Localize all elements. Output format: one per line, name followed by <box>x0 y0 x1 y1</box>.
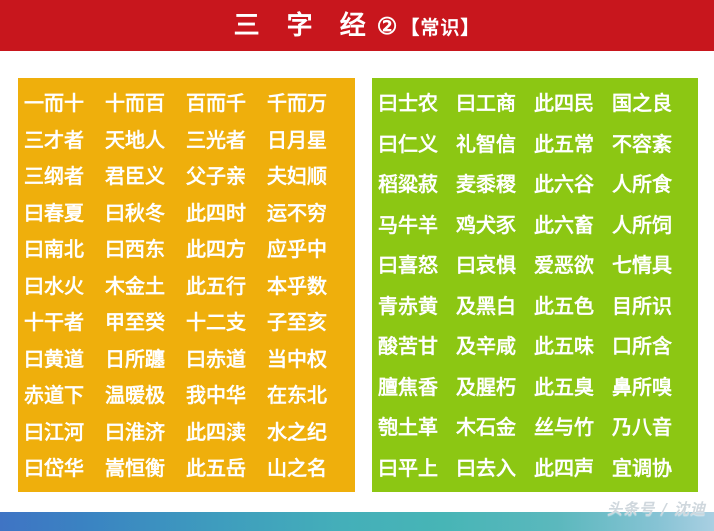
verse-cell: 国之良 <box>612 88 672 118</box>
verse-row: 青赤黄及黑白此五色目所识 <box>378 291 692 321</box>
verse-cell: 君臣义 <box>105 161 186 191</box>
verse-cell: 此五色 <box>534 291 612 321</box>
page-title-tag: 【常识】 <box>400 17 480 39</box>
verse-table-orange: 一而十十而百百而千千而万三才者天地人三光者日月星三纲者君臣义父子亲夫妇顺曰春夏曰… <box>18 78 355 492</box>
verse-cell: 十而百 <box>105 88 186 118</box>
verse-cell: 曰黄道 <box>24 344 105 374</box>
verse-cell: 膻焦香 <box>378 372 456 402</box>
verse-row: 三纲者君臣义父子亲夫妇顺 <box>24 161 349 191</box>
verse-cell: 曰秋冬 <box>105 198 186 228</box>
verse-cell: 此四时 <box>186 198 267 228</box>
verse-cell: 木金土 <box>105 271 186 301</box>
verse-cell: 曰士农 <box>378 88 456 118</box>
verse-cell: 三才者 <box>24 125 105 155</box>
verse-cell: 青赤黄 <box>378 291 456 321</box>
verse-cell: 日所躔 <box>105 344 186 374</box>
verse-row: 膻焦香及腥朽此五臭鼻所嗅 <box>378 372 692 402</box>
verse-cell: 曰西东 <box>105 234 186 264</box>
verse-row: 三才者天地人三光者日月星 <box>24 125 349 155</box>
verse-cell: 我中华 <box>186 380 267 410</box>
verse-cell: 此四方 <box>186 234 267 264</box>
verse-cell: 礼智信 <box>456 129 534 159</box>
verse-cell: 人所饲 <box>612 210 672 240</box>
verse-cell: 此四渎 <box>186 417 267 447</box>
verse-cell: 此五味 <box>534 331 612 361</box>
verse-row: 曰喜怒曰哀惧爱恶欲七情具 <box>378 250 692 280</box>
verse-cell: 当中权 <box>267 344 327 374</box>
verse-cell: 曰平上 <box>378 453 456 483</box>
verse-cell: 夫妇顺 <box>267 161 327 191</box>
verse-row: 马牛羊鸡犬豕此六畜人所饲 <box>378 210 692 240</box>
verse-cell: 曰哀惧 <box>456 250 534 280</box>
verse-cell: 此五臭 <box>534 372 612 402</box>
verse-cell: 此五行 <box>186 271 267 301</box>
verse-cell: 曰江河 <box>24 417 105 447</box>
verse-cell: 十干者 <box>24 307 105 337</box>
verse-row: 曰士农曰工商此四民国之良 <box>378 88 692 118</box>
verse-cell: 水之纪 <box>267 417 327 447</box>
verse-cell: 及黑白 <box>456 291 534 321</box>
verse-cell: 嵩恒衡 <box>105 453 186 483</box>
verse-cell: 马牛羊 <box>378 210 456 240</box>
verse-cell: 此六畜 <box>534 210 612 240</box>
verse-tables-area: 一而十十而百百而千千而万三才者天地人三光者日月星三纲者君臣义父子亲夫妇顺曰春夏曰… <box>0 51 714 512</box>
verse-cell: 一而十 <box>24 88 105 118</box>
verse-row: 曰春夏曰秋冬此四时运不穷 <box>24 198 349 228</box>
verse-cell: 不容紊 <box>612 129 672 159</box>
verse-row: 曰江河曰淮济此四渎水之纪 <box>24 417 349 447</box>
verse-cell: 酸苦甘 <box>378 331 456 361</box>
verse-cell: 爱恶欲 <box>534 250 612 280</box>
verse-row: 十干者甲至癸十二支子至亥 <box>24 307 349 337</box>
verse-cell: 曰岱华 <box>24 453 105 483</box>
verse-cell: 父子亲 <box>186 161 267 191</box>
verse-cell: 鸡犬豕 <box>456 210 534 240</box>
verse-cell: 曰赤道 <box>186 344 267 374</box>
verse-row: 曰仁义礼智信此五常不容紊 <box>378 129 692 159</box>
verse-cell: 人所食 <box>612 169 672 199</box>
verse-cell: 曰南北 <box>24 234 105 264</box>
verse-cell: 三纲者 <box>24 161 105 191</box>
verse-cell: 应乎中 <box>267 234 327 264</box>
verse-cell: 山之名 <box>267 453 327 483</box>
verse-cell: 此六谷 <box>534 169 612 199</box>
page-title: 三 字 经②【常识】 <box>234 13 481 39</box>
verse-cell: 及腥朽 <box>456 372 534 402</box>
verse-cell: 口所含 <box>612 331 672 361</box>
verse-row: 曰南北曰西东此四方应乎中 <box>24 234 349 264</box>
verse-cell: 匏土革 <box>378 412 456 442</box>
verse-cell: 日月星 <box>267 125 327 155</box>
verse-cell: 三光者 <box>186 125 267 155</box>
verse-cell: 目所识 <box>612 291 672 321</box>
verse-cell: 麦黍稷 <box>456 169 534 199</box>
verse-row: 曰水火木金土此五行本乎数 <box>24 271 349 301</box>
verse-row: 一而十十而百百而千千而万 <box>24 88 349 118</box>
page-title-main: 三 字 经 <box>234 11 375 41</box>
verse-cell: 此四声 <box>534 453 612 483</box>
verse-cell: 天地人 <box>105 125 186 155</box>
verse-cell: 曰淮济 <box>105 417 186 447</box>
verse-cell: 丝与竹 <box>534 412 612 442</box>
verse-cell: 运不穷 <box>267 198 327 228</box>
verse-cell: 曰去入 <box>456 453 534 483</box>
verse-cell: 此五岳 <box>186 453 267 483</box>
verse-cell: 赤道下 <box>24 380 105 410</box>
verse-cell: 及辛咸 <box>456 331 534 361</box>
verse-cell: 稻粱菽 <box>378 169 456 199</box>
verse-row: 曰黄道日所躔曰赤道当中权 <box>24 344 349 374</box>
verse-cell: 子至亥 <box>267 307 327 337</box>
verse-cell: 千而万 <box>267 88 327 118</box>
verse-cell: 鼻所嗅 <box>612 372 672 402</box>
verse-cell: 甲至癸 <box>105 307 186 337</box>
verse-cell: 此五常 <box>534 129 612 159</box>
verse-table-green: 曰士农曰工商此四民国之良曰仁义礼智信此五常不容紊稻粱菽麦黍稷此六谷人所食马牛羊鸡… <box>372 78 698 492</box>
header-banner: 三 字 经②【常识】 <box>0 0 714 51</box>
verse-cell: 百而千 <box>186 88 267 118</box>
verse-cell: 本乎数 <box>267 271 327 301</box>
verse-row: 酸苦甘及辛咸此五味口所含 <box>378 331 692 361</box>
verse-row: 稻粱菽麦黍稷此六谷人所食 <box>378 169 692 199</box>
verse-cell: 宜调协 <box>612 453 672 483</box>
verse-cell: 曰水火 <box>24 271 105 301</box>
page-title-number: ② <box>375 13 401 40</box>
verse-row: 曰平上曰去入此四声宜调协 <box>378 453 692 483</box>
verse-cell: 温暖极 <box>105 380 186 410</box>
verse-row: 赤道下温暖极我中华在东北 <box>24 380 349 410</box>
verse-cell: 曰工商 <box>456 88 534 118</box>
verse-row: 曰岱华嵩恒衡此五岳山之名 <box>24 453 349 483</box>
verse-cell: 十二支 <box>186 307 267 337</box>
verse-cell: 曰喜怒 <box>378 250 456 280</box>
verse-cell: 木石金 <box>456 412 534 442</box>
verse-cell: 在东北 <box>267 380 327 410</box>
verse-cell: 此四民 <box>534 88 612 118</box>
verse-cell: 七情具 <box>612 250 672 280</box>
verse-row: 匏土革木石金丝与竹乃八音 <box>378 412 692 442</box>
watermark-credit: 头条号 / 沈迪 <box>607 498 706 519</box>
verse-cell: 乃八音 <box>612 412 672 442</box>
verse-cell: 曰仁义 <box>378 129 456 159</box>
verse-cell: 曰春夏 <box>24 198 105 228</box>
